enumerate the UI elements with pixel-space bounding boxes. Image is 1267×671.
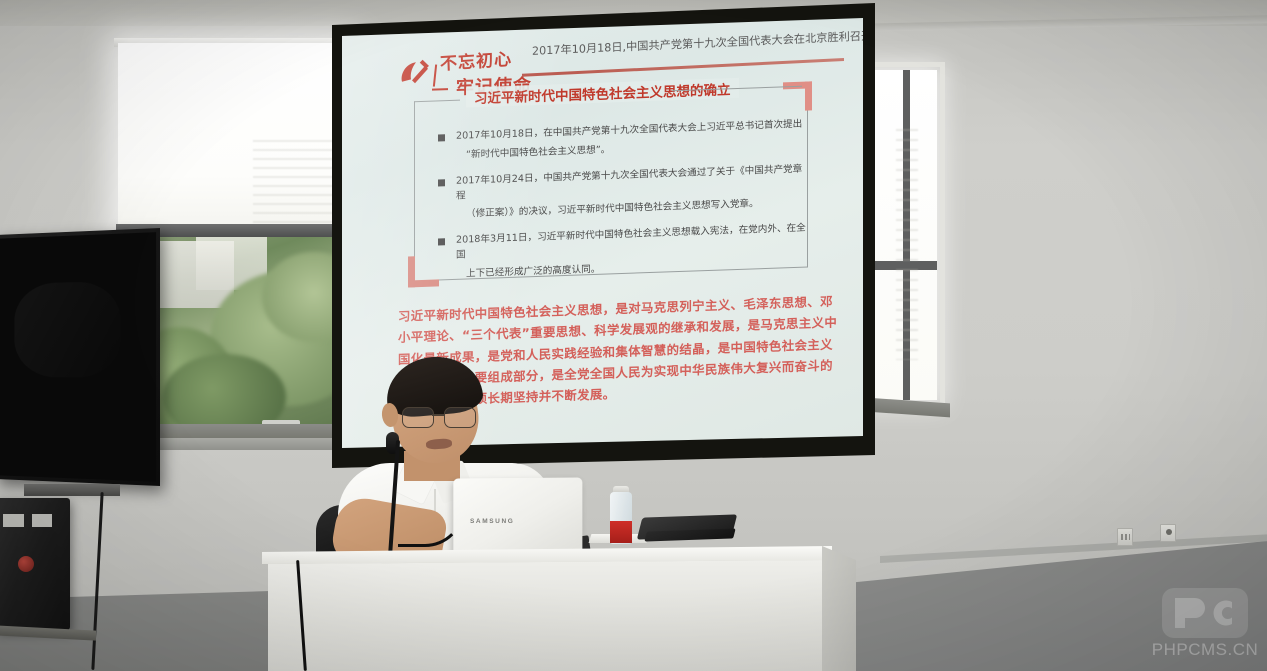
brand-line-1: 不忘初心 bbox=[440, 45, 513, 75]
slide-header-date: 2017年10月18日,中国共产党第十九次全国代表大会在北京胜利召开 bbox=[532, 28, 852, 59]
list-item: 2017年10月18日，在中国共产党第十九次全国代表大会上习近平总书记首次提出 … bbox=[436, 118, 808, 165]
screenshot-root: 不忘初心 牢记使命 2017年10月18日,中国共产党第十九次全国代表大会在北京… bbox=[0, 0, 1267, 671]
box-edge-top bbox=[414, 100, 460, 103]
eyeglasses bbox=[402, 407, 476, 427]
slide-bullet-list: 2017年10月18日，在中国共产党第十九次全国代表大会上习近平总书记首次提出 … bbox=[436, 118, 808, 295]
wall-mounted-television[interactable] bbox=[0, 228, 160, 486]
square-bullet-icon bbox=[438, 179, 445, 186]
glasses-bridge bbox=[432, 414, 444, 416]
computer-tower[interactable] bbox=[0, 498, 70, 630]
tv-glare bbox=[15, 281, 121, 378]
left-window-upper bbox=[118, 43, 350, 233]
slide-bracket-box: 习近平新时代中国特色社会主义思想的确立 2017年10月18日，在中国共产党第十… bbox=[414, 88, 808, 282]
slide-header-rule bbox=[522, 58, 844, 76]
podium-side-panel bbox=[822, 546, 856, 671]
tower-sticker bbox=[3, 514, 24, 527]
watermark-text: PHPCMS.CN bbox=[1150, 640, 1260, 660]
corner-bracket-bottom-left bbox=[408, 255, 439, 287]
pc-logo bbox=[1162, 588, 1248, 638]
outlet-port bbox=[1166, 529, 1172, 535]
laptop-brand-logo: SAMSUNG bbox=[470, 518, 514, 525]
list-item: 2018年3月11日，习近平新时代中国特色社会主义思想载入宪法，在党内外、在全国… bbox=[436, 222, 808, 284]
right-window-texture bbox=[896, 129, 919, 360]
tower-sticker-2 bbox=[32, 514, 53, 527]
network-outlet[interactable] bbox=[1160, 524, 1176, 542]
bottle-label bbox=[610, 521, 632, 543]
power-button-icon[interactable] bbox=[18, 556, 34, 572]
outlet-slots bbox=[1121, 534, 1130, 540]
laptop[interactable] bbox=[453, 477, 582, 556]
brand-tick-icon bbox=[433, 64, 437, 86]
square-bullet-icon bbox=[438, 238, 445, 245]
power-outlet[interactable] bbox=[1117, 528, 1133, 546]
list-item: 2017年10月24日，中国共产党第十九次全国代表大会通过了关于《中国共产党章程… bbox=[436, 162, 808, 224]
tv-mount bbox=[24, 484, 120, 496]
watermark: PHPCMS.CN bbox=[1150, 588, 1260, 666]
white-podium bbox=[268, 560, 826, 671]
window-glare-texture bbox=[253, 140, 346, 227]
square-bullet-icon bbox=[438, 134, 445, 141]
brand-tick-icon-2 bbox=[432, 88, 448, 91]
lens-left bbox=[402, 407, 434, 428]
ccp-hammer-sickle-emblem bbox=[398, 59, 432, 88]
box-edge-left bbox=[414, 101, 415, 281]
lens-right bbox=[444, 407, 476, 428]
